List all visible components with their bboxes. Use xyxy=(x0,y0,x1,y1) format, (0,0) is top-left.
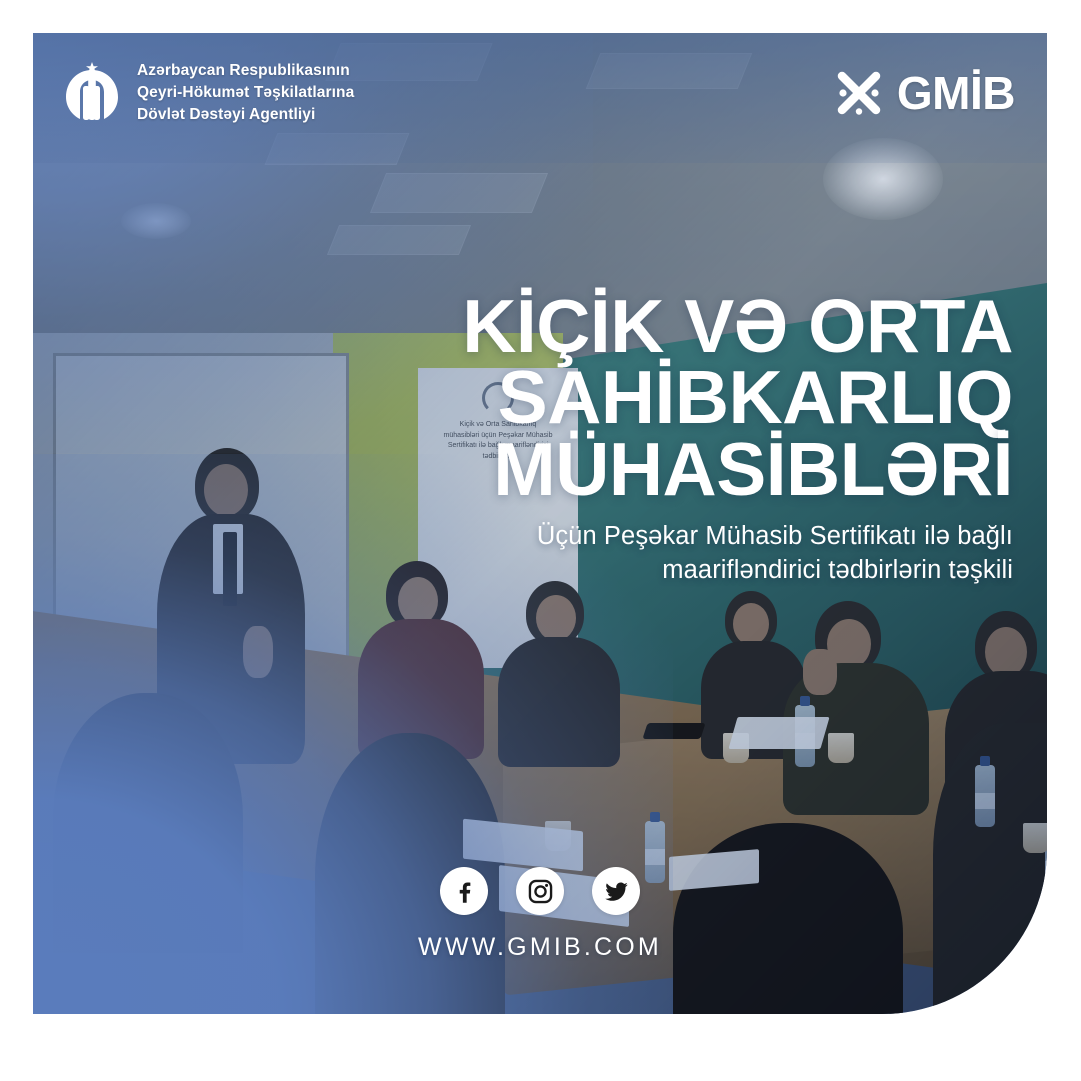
facebook-icon xyxy=(451,878,478,905)
facebook-link[interactable] xyxy=(440,867,488,915)
title-line1: KİÇİK VƏ ORTA xyxy=(313,291,1013,362)
poster-header: Azərbaycan Respublikasının Qeyri-Hökumət… xyxy=(33,33,1047,153)
agency-name-line3: Dövlət Dəstəyi Agentliyi xyxy=(137,104,354,126)
agency-name-line1: Azərbaycan Respublikasının xyxy=(137,60,354,82)
agency-name-line2: Qeyri-Hökumət Təşkilatlarına xyxy=(137,82,354,104)
website-url[interactable]: WWW.GMIB.COM xyxy=(418,933,662,962)
social-links xyxy=(440,867,640,915)
gmib-lockup: GMİB xyxy=(833,67,1015,119)
agency-lockup: Azərbaycan Respublikasının Qeyri-Hökumət… xyxy=(63,60,354,126)
subtitle-line1: Üçün Peşəkar Mühasib Sertifikatı ilə bağ… xyxy=(313,519,1013,553)
azerbaijan-agency-emblem-icon xyxy=(63,62,121,124)
poster-canvas: Kiçik və Orta Sahibkarlıq mühasibləri üç… xyxy=(33,33,1047,1014)
page-title: KİÇİK VƏ ORTA SAHİBKARLIQ MÜHASİBLƏRİ xyxy=(313,291,1013,505)
title-line2: SAHİBKARLIQ xyxy=(313,362,1013,433)
title-line3: MÜHASİBLƏRİ xyxy=(313,434,1013,505)
twitter-link[interactable] xyxy=(592,867,640,915)
page-subtitle: Üçün Peşəkar Mühasib Sertifikatı ilə bağ… xyxy=(313,519,1013,587)
gmib-wordmark: GMİB xyxy=(897,70,1015,116)
headline-block: KİÇİK VƏ ORTA SAHİBKARLIQ MÜHASİBLƏRİ Üç… xyxy=(313,291,1013,587)
instagram-link[interactable] xyxy=(516,867,564,915)
gmib-x-mark-icon xyxy=(833,67,885,119)
agency-name: Azərbaycan Respublikasının Qeyri-Hökumət… xyxy=(137,60,354,126)
instagram-icon xyxy=(527,878,554,905)
twitter-icon xyxy=(603,878,630,905)
subtitle-line2: maarifləndirici tədbirlərin təşkili xyxy=(313,553,1013,587)
poster-footer: WWW.GMIB.COM xyxy=(33,867,1047,962)
